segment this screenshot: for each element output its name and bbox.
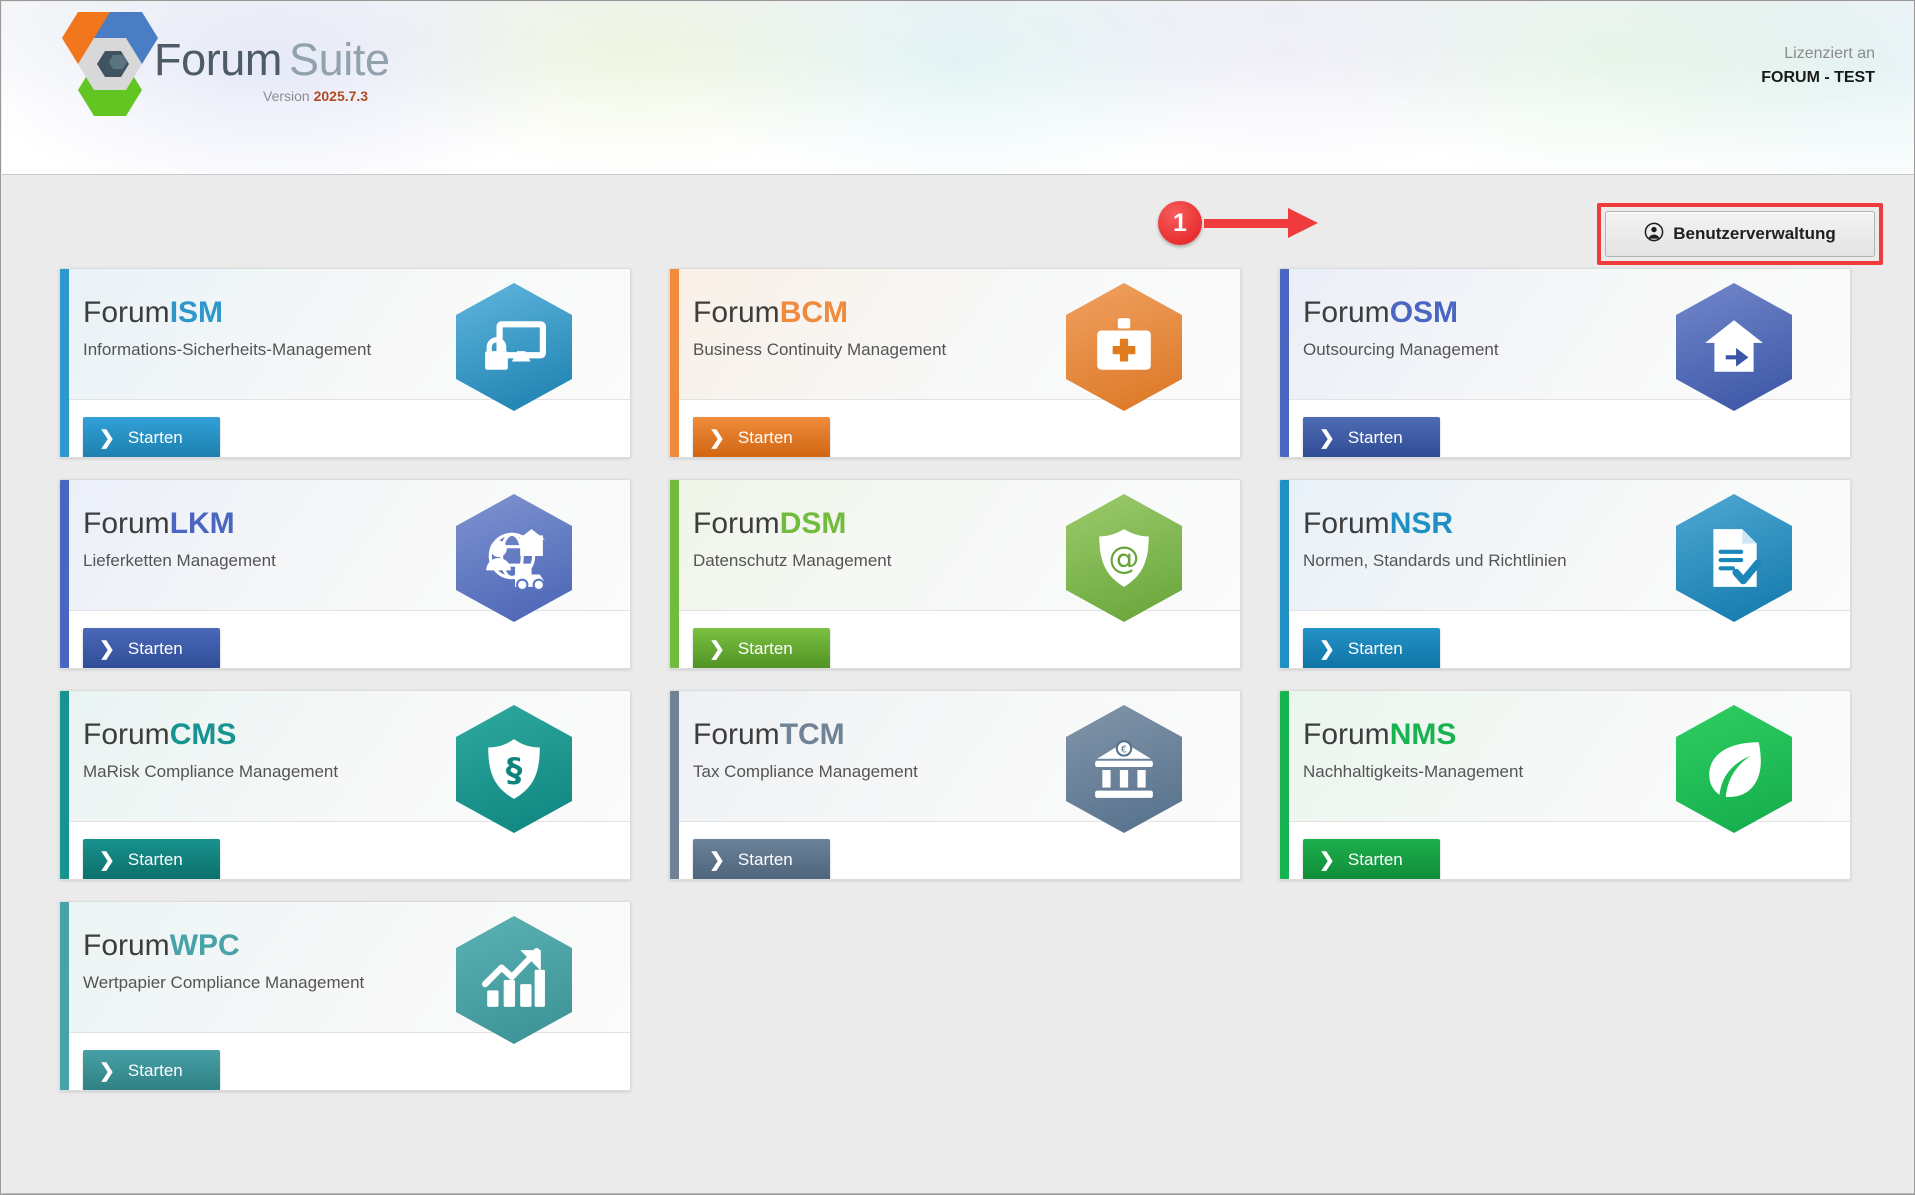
card-title-prefix: Forum xyxy=(1303,718,1390,751)
card-title-code: LKM xyxy=(170,507,235,540)
card-title-code: WPC xyxy=(170,929,240,962)
card-title: ForumISM xyxy=(83,296,223,330)
start-button-label: Starten xyxy=(128,850,183,870)
card-title: ForumDSM xyxy=(693,507,846,541)
application-window: ForumSuite Version 2025.7.3 Lizenziert a… xyxy=(0,0,1915,1195)
svg-text:@: @ xyxy=(1109,540,1140,576)
start-button-tcm[interactable]: ❯Starten xyxy=(693,839,830,880)
module-card-nms[interactable]: ForumNMSNachhaltigkeits-Management❯Start… xyxy=(1279,690,1851,880)
card-title-code: CMS xyxy=(170,718,237,751)
card-accent-bar xyxy=(60,691,69,879)
module-card-lkm[interactable]: ForumLKMLieferketten Management❯Starten xyxy=(59,479,631,669)
chevron-right-icon: ❯ xyxy=(99,640,115,659)
module-card-cms[interactable]: ForumCMSMaRisk Compliance Management❯Sta… xyxy=(59,690,631,880)
module-card-osm[interactable]: ForumOSMOutsourcing Management❯Starten xyxy=(1279,268,1851,458)
card-subtitle: Normen, Standards und Richtlinien xyxy=(1303,551,1567,571)
card-subtitle: Tax Compliance Management xyxy=(693,762,918,782)
start-button-label: Starten xyxy=(738,850,793,870)
license-info: Lizenziert an FORUM - TEST xyxy=(1761,42,1875,90)
card-title-prefix: Forum xyxy=(83,296,170,329)
user-admin-area: Benutzerverwaltung xyxy=(1605,211,1875,257)
start-button-label: Starten xyxy=(1348,850,1403,870)
card-title-code: OSM xyxy=(1390,296,1458,329)
start-button-bcm[interactable]: ❯Starten xyxy=(693,417,830,458)
start-button-label: Starten xyxy=(738,639,793,659)
card-subtitle: Lieferketten Management xyxy=(83,551,276,571)
card-subtitle: Informations-Sicherheits-Management xyxy=(83,340,371,360)
card-title: ForumLKM xyxy=(83,507,235,541)
module-card-wpc[interactable]: ForumWPCWertpapier Compliance Management… xyxy=(59,901,631,1091)
module-card-tcm[interactable]: ForumTCMTax Compliance Management❯Starte… xyxy=(669,690,1241,880)
card-accent-bar xyxy=(670,691,679,879)
card-title-prefix: Forum xyxy=(83,718,170,751)
callout-badge-1: 1 xyxy=(1158,201,1202,245)
svg-text:€: € xyxy=(1121,745,1127,756)
card-subtitle: Outsourcing Management xyxy=(1303,340,1499,360)
card-subtitle: Wertpapier Compliance Management xyxy=(83,973,364,993)
start-button-dsm[interactable]: ❯Starten xyxy=(693,628,830,669)
start-button-label: Starten xyxy=(128,639,183,659)
card-title-code: BCM xyxy=(780,296,848,329)
card-accent-bar xyxy=(60,480,69,668)
card-title-code: NMS xyxy=(1390,718,1457,751)
start-button-osm[interactable]: ❯Starten xyxy=(1303,417,1440,458)
card-title-prefix: Forum xyxy=(83,929,170,962)
card-title-prefix: Forum xyxy=(693,296,780,329)
card-accent-bar xyxy=(1280,269,1289,457)
app-logo-text: ForumSuite xyxy=(154,34,390,86)
chevron-right-icon: ❯ xyxy=(99,1062,115,1081)
start-button-label: Starten xyxy=(738,428,793,448)
module-card-grid: ForumISMInformations-Sicherheits-Managem… xyxy=(59,268,1850,1091)
benutzerverwaltung-button[interactable]: Benutzerverwaltung xyxy=(1605,211,1875,257)
card-title-code: DSM xyxy=(780,507,847,540)
app-header: ForumSuite Version 2025.7.3 Lizenziert a… xyxy=(2,2,1915,175)
start-button-nms[interactable]: ❯Starten xyxy=(1303,839,1440,880)
card-title-prefix: Forum xyxy=(1303,507,1390,540)
card-title-prefix: Forum xyxy=(1303,296,1390,329)
card-subtitle: MaRisk Compliance Management xyxy=(83,762,338,782)
chevron-right-icon: ❯ xyxy=(709,429,725,448)
license-label: Lizenziert an xyxy=(1761,42,1875,66)
module-card-dsm[interactable]: ForumDSMDatenschutz Management❯Starten@ xyxy=(669,479,1241,669)
version-label: Version xyxy=(263,88,310,104)
card-title: ForumBCM xyxy=(693,296,848,330)
app-version: Version 2025.7.3 xyxy=(263,88,368,104)
module-card-nsr[interactable]: ForumNSRNormen, Standards und Richtlinie… xyxy=(1279,479,1851,669)
user-circle-icon xyxy=(1644,222,1664,247)
chevron-right-icon: ❯ xyxy=(1319,429,1335,448)
chevron-right-icon: ❯ xyxy=(709,851,725,870)
card-title: ForumNSR xyxy=(1303,507,1453,541)
card-title-prefix: Forum xyxy=(83,507,170,540)
card-title: ForumOSM xyxy=(1303,296,1458,330)
logo-forum-text: Forum xyxy=(154,34,282,85)
logo-suite-text: Suite xyxy=(289,34,390,85)
card-title: ForumTCM xyxy=(693,718,845,752)
chevron-right-icon: ❯ xyxy=(1319,851,1335,870)
chevron-right-icon: ❯ xyxy=(99,429,115,448)
start-button-label: Starten xyxy=(1348,428,1403,448)
module-card-bcm[interactable]: ForumBCMBusiness Continuity Management❯S… xyxy=(669,268,1241,458)
start-button-nsr[interactable]: ❯Starten xyxy=(1303,628,1440,669)
forum-suite-hexagon-logo-icon xyxy=(48,10,168,120)
chevron-right-icon: ❯ xyxy=(99,851,115,870)
card-subtitle: Nachhaltigkeits-Management xyxy=(1303,762,1523,782)
card-title-prefix: Forum xyxy=(693,718,780,751)
card-subtitle: Business Continuity Management xyxy=(693,340,946,360)
card-accent-bar xyxy=(60,269,69,457)
chevron-right-icon: ❯ xyxy=(1319,640,1335,659)
card-accent-bar xyxy=(60,902,69,1090)
start-button-lkm[interactable]: ❯Starten xyxy=(83,628,220,669)
card-accent-bar xyxy=(1280,691,1289,879)
module-card-ism[interactable]: ForumISMInformations-Sicherheits-Managem… xyxy=(59,268,631,458)
benutzerverwaltung-label: Benutzerverwaltung xyxy=(1673,224,1835,244)
card-title: ForumNMS xyxy=(1303,718,1456,752)
chevron-right-icon: ❯ xyxy=(709,640,725,659)
card-title-code: NSR xyxy=(1390,507,1453,540)
version-number: 2025.7.3 xyxy=(314,88,369,104)
card-title: ForumWPC xyxy=(83,929,240,963)
start-button-wpc[interactable]: ❯Starten xyxy=(83,1050,220,1091)
card-accent-bar xyxy=(1280,480,1289,668)
start-button-label: Starten xyxy=(128,428,183,448)
license-name: FORUM - TEST xyxy=(1761,66,1875,90)
start-button-cms[interactable]: ❯Starten xyxy=(83,839,220,880)
start-button-label: Starten xyxy=(1348,639,1403,659)
card-subtitle: Datenschutz Management xyxy=(693,551,891,571)
start-button-label: Starten xyxy=(128,1061,183,1081)
callout-arrow xyxy=(1204,216,1322,230)
svg-text:§: § xyxy=(506,750,523,789)
main-content: 1 Benutzerverwaltung ForumISMInformation… xyxy=(2,175,1915,1194)
card-accent-bar xyxy=(670,480,679,668)
card-accent-bar xyxy=(670,269,679,457)
card-title-code: TCM xyxy=(780,718,845,751)
start-button-ism[interactable]: ❯Starten xyxy=(83,417,220,458)
card-title-code: ISM xyxy=(170,296,223,329)
card-title: ForumCMS xyxy=(83,718,236,752)
card-title-prefix: Forum xyxy=(693,507,780,540)
